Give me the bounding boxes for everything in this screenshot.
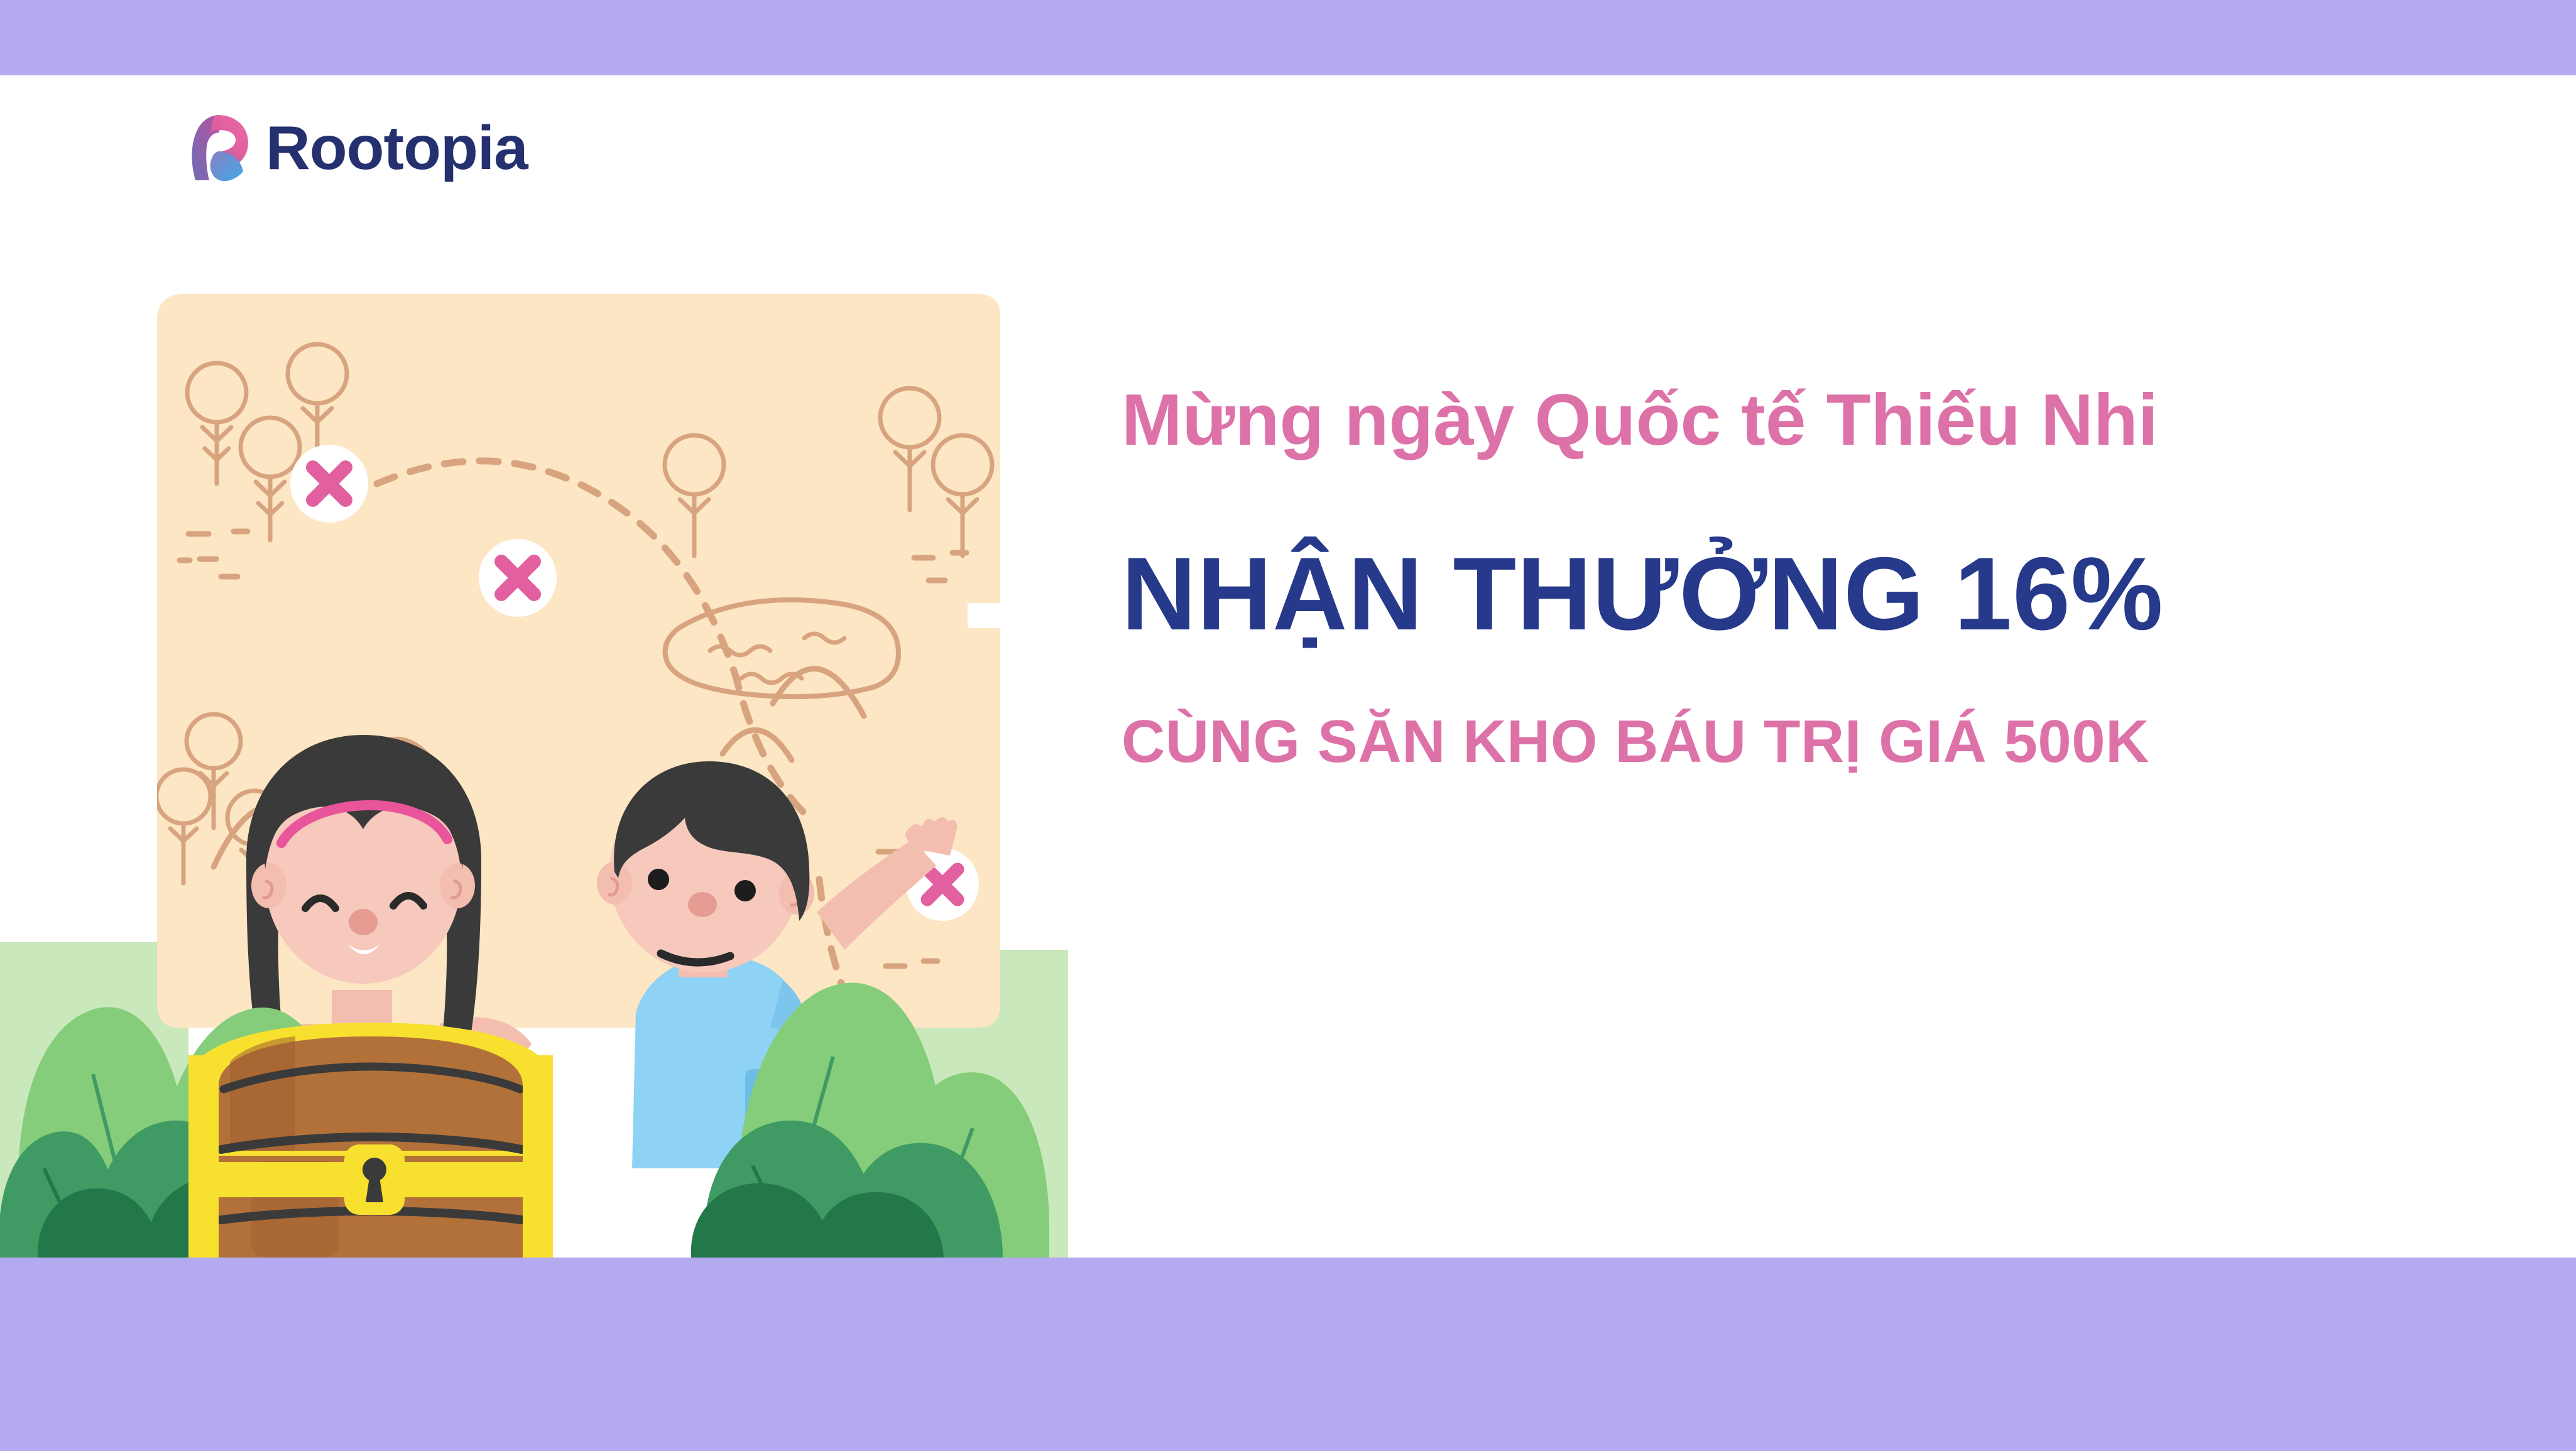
x-marker-icon	[290, 445, 368, 523]
promo-headline: NHẬN THƯỞNG 16%	[1122, 463, 2504, 651]
brand-wordmark: Rootopia	[266, 117, 528, 178]
treasure-illustration	[0, 276, 1068, 1258]
promo-subline: CÙNG SĂN KHO BÁU TRỊ GIÁ 500K	[1122, 651, 2504, 776]
brand-logo[interactable]: Rootopia	[179, 110, 528, 185]
promo-eyebrow: Mừng ngày Quốc tế Thiếu Nhi	[1122, 377, 2504, 463]
top-accent-band	[0, 0, 2576, 75]
promo-copy: Mừng ngày Quốc tế Thiếu Nhi NHẬN THƯỞNG …	[1122, 377, 2504, 777]
bottom-accent-band	[0, 1258, 2576, 1451]
x-marker-icon	[479, 539, 557, 617]
treasure-chest	[188, 1023, 553, 1258]
rootopia-leaf-r-mark-icon	[179, 110, 254, 185]
